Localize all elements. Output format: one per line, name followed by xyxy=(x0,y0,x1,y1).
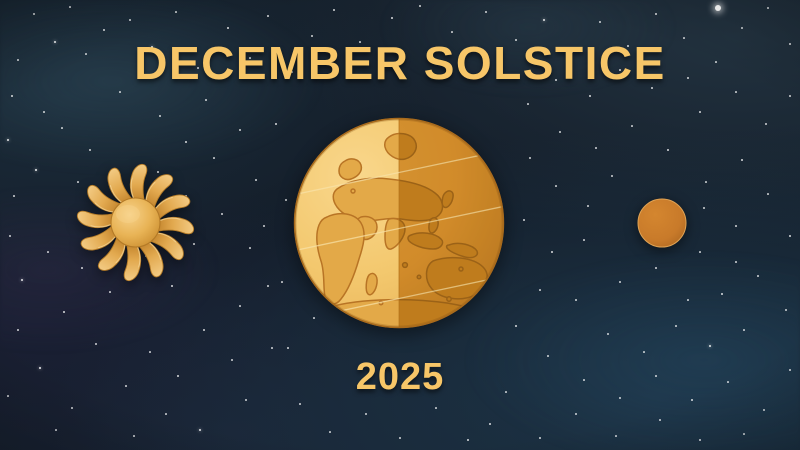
moon-icon xyxy=(637,198,687,248)
earth-globe xyxy=(293,117,505,329)
sun-disc xyxy=(111,198,160,247)
year-label: 2025 xyxy=(0,356,800,399)
poster-canvas: DECEMBER SOLSTICE 2025 xyxy=(0,0,800,450)
page-title: DECEMBER SOLSTICE xyxy=(0,36,800,90)
sun-icon xyxy=(73,160,198,285)
